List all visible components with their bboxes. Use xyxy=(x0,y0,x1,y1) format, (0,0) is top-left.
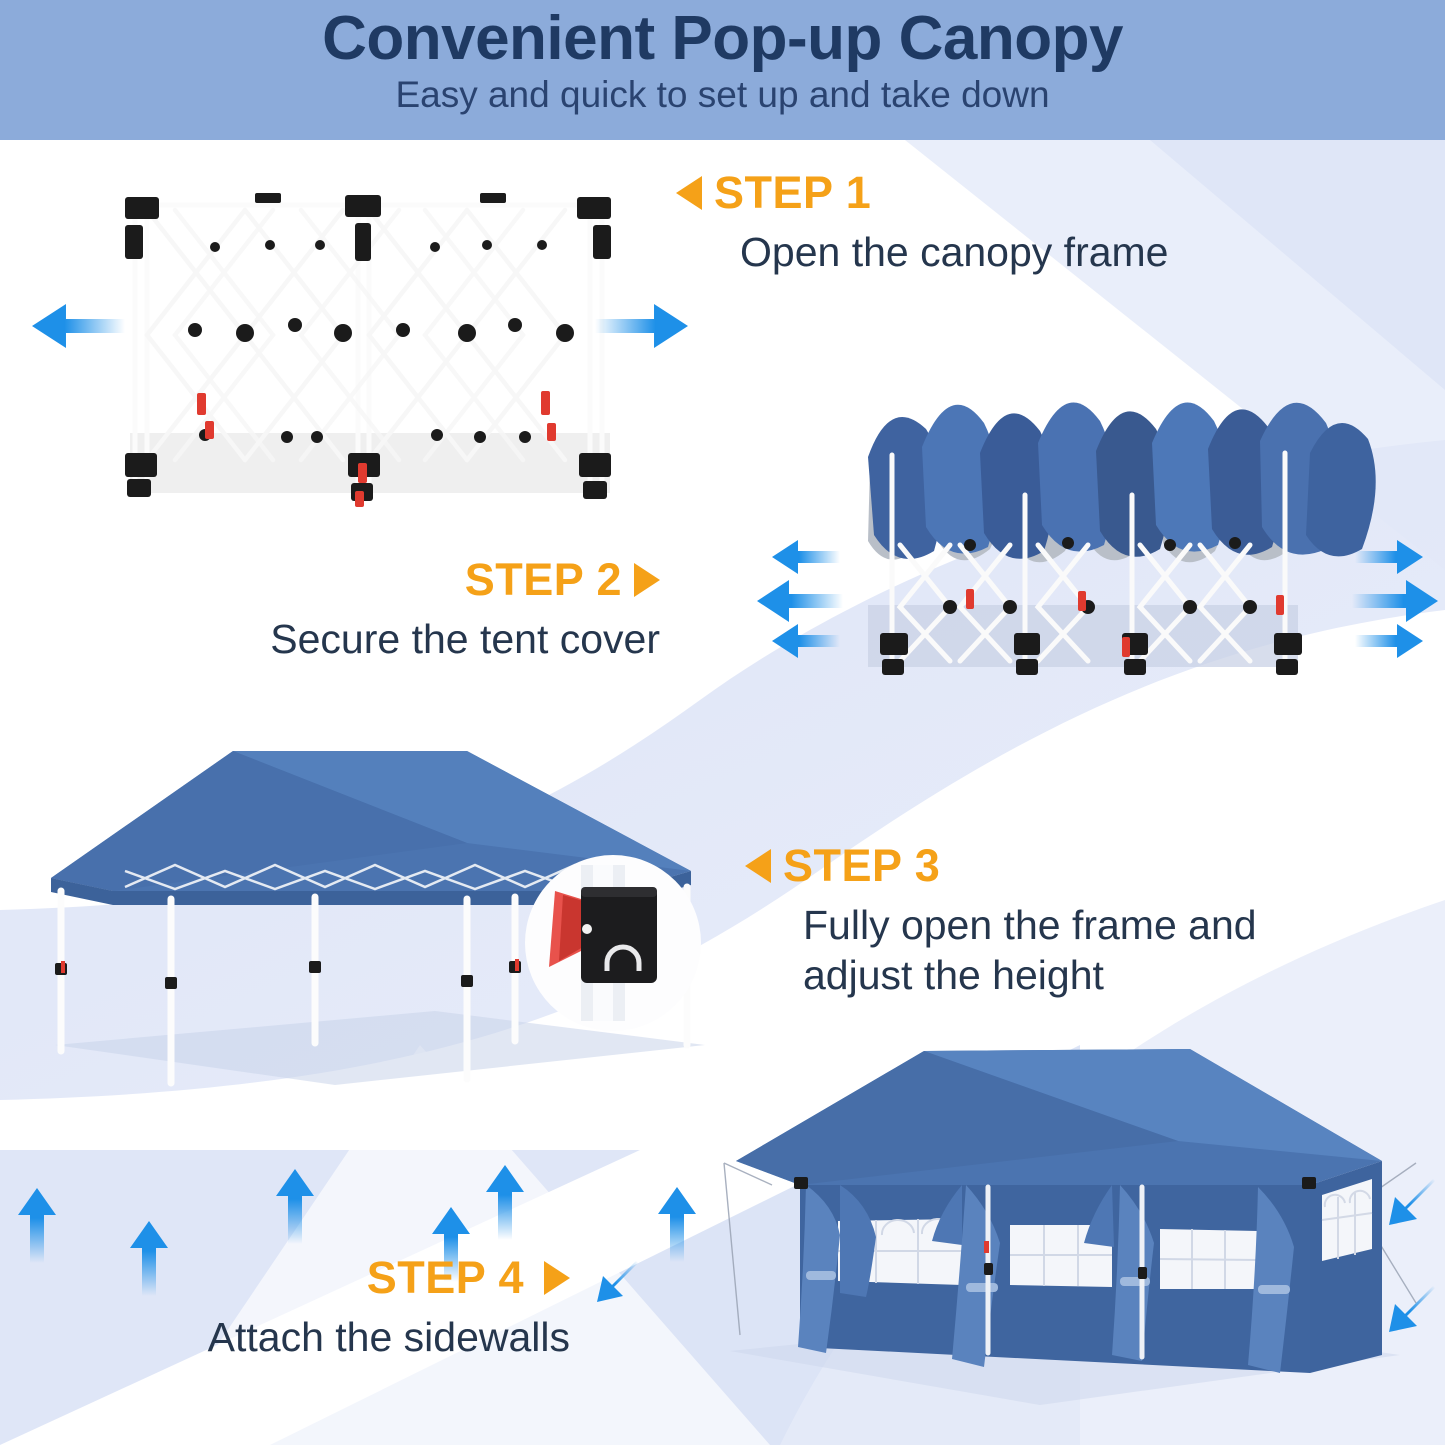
step-1-description: Open the canopy frame xyxy=(740,227,1168,277)
step-1-illustration xyxy=(55,175,675,515)
arrow-right-step2-bottom xyxy=(1355,620,1425,662)
step-3-description: Fully open the frame and adjust the heig… xyxy=(803,900,1333,1000)
step-3-illustration xyxy=(15,715,725,1105)
step-2-text: STEP 2 Secure the tent cover xyxy=(215,557,660,664)
step-1-text: STEP 1 Open the canopy frame xyxy=(676,170,1168,277)
arrow-step4-upper xyxy=(1383,1175,1439,1231)
arrow-up-step3-e xyxy=(482,1162,528,1240)
arrow-left-step2-top xyxy=(770,536,840,578)
triangle-right-icon xyxy=(544,1261,570,1295)
arrow-left-step2-bottom xyxy=(770,620,840,662)
triangle-left-icon xyxy=(676,176,702,210)
step-3-heading: STEP 3 xyxy=(745,843,1365,888)
arrow-up-step3-a xyxy=(14,1185,60,1263)
triangle-right-icon xyxy=(634,563,660,597)
step-1-label: STEP 1 xyxy=(714,170,871,215)
step-4-text: STEP 4 Attach the sidewalls xyxy=(140,1255,570,1362)
arrow-step4-lower xyxy=(1383,1282,1439,1338)
arrow-right-step1 xyxy=(595,298,690,354)
arrow-left-step1 xyxy=(30,298,125,354)
step-4-illustration xyxy=(710,1035,1420,1435)
arrow-up-step3-c xyxy=(272,1166,318,1244)
arrow-step4-text-side xyxy=(592,1258,642,1308)
arrow-right-step2-top xyxy=(1355,536,1425,578)
header-banner: Convenient Pop-up Canopy Easy and quick … xyxy=(0,0,1445,140)
step-2-label: STEP 2 xyxy=(465,557,622,602)
step-4-label: STEP 4 xyxy=(367,1255,524,1300)
step-3-text: STEP 3 Fully open the frame and adjust t… xyxy=(745,843,1365,1000)
triangle-left-icon xyxy=(745,849,771,883)
arrow-up-step3-f xyxy=(654,1184,700,1262)
step-4-description: Attach the sidewalls xyxy=(140,1312,570,1362)
step-4-heading: STEP 4 xyxy=(140,1255,570,1300)
step-2-description: Secure the tent cover xyxy=(215,614,660,664)
page-title: Convenient Pop-up Canopy xyxy=(322,4,1123,73)
step-1-heading: STEP 1 xyxy=(676,170,1168,215)
step-2-heading: STEP 2 xyxy=(215,557,660,602)
height-latch-inset xyxy=(525,855,701,1031)
step-2-illustration xyxy=(840,345,1400,700)
step-3-label: STEP 3 xyxy=(783,843,940,888)
page-subtitle: Easy and quick to set up and take down xyxy=(395,75,1049,116)
